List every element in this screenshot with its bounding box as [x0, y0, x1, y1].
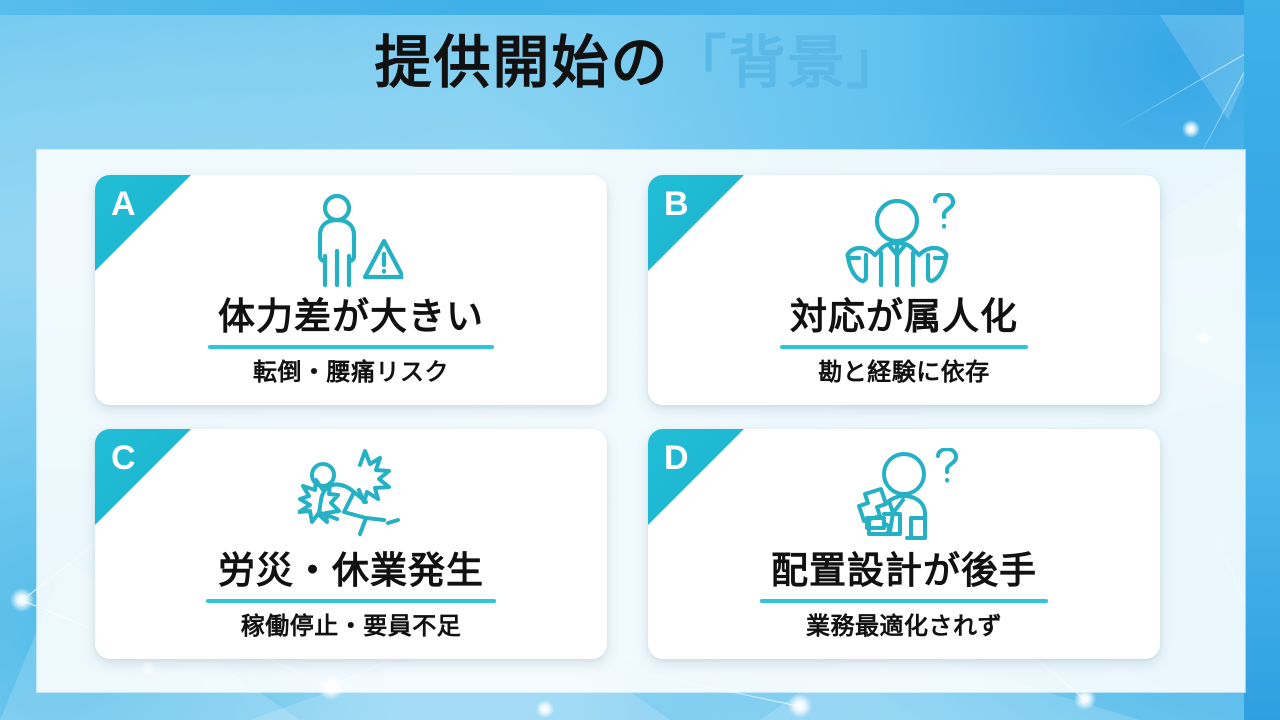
card-b-corner-badge — [648, 175, 744, 271]
card-d-badge-letter: D — [664, 441, 689, 475]
card-b-heading: 対応が属人化 — [790, 297, 1018, 338]
card-d-corner-badge — [648, 429, 744, 525]
background-top-band — [0, 0, 1280, 15]
card-b-heading-rule — [780, 345, 1028, 349]
page-title: 提供開始の「背景」 — [0, 31, 1280, 97]
card-b[interactable]: B 対応が属人化 勘と経験に依存 — [648, 175, 1160, 405]
background-right-band — [1244, 0, 1280, 720]
card-a-corner-badge — [95, 175, 191, 271]
card-d-heading: 配置設計が後手 — [771, 551, 1037, 592]
card-c-corner-badge — [95, 429, 191, 525]
card-b-badge-letter: B — [664, 187, 689, 221]
page-title-highlight: 「背景」 — [670, 31, 906, 95]
card-a-heading-rule — [208, 345, 494, 349]
card-grid: A 体力差が大きい 転倒・腰痛リスク B — [95, 175, 1160, 659]
card-a[interactable]: A 体力差が大きい 転倒・腰痛リスク — [95, 175, 607, 405]
card-a-subtitle: 転倒・腰痛リスク — [253, 360, 449, 386]
person-shrug-question-icon — [845, 191, 963, 295]
card-c-badge-letter: C — [111, 441, 136, 475]
card-d-subtitle: 業務最適化されず — [806, 614, 1002, 640]
card-c-heading-rule — [206, 599, 496, 603]
card-a-badge-letter: A — [111, 187, 136, 221]
card-d[interactable]: D 配置設計が後手 業務最適化され — [648, 429, 1160, 659]
person-warning-icon — [299, 191, 403, 295]
page-title-plain: 提供開始の — [375, 31, 670, 95]
card-a-heading: 体力差が大きい — [218, 297, 484, 338]
person-puzzle-question-icon — [849, 445, 959, 549]
card-d-heading-rule — [760, 599, 1048, 603]
slide-root: 提供開始の「背景」 A 体力差が大きい 転倒・腰痛リスク — [0, 0, 1280, 720]
card-c-heading: 労災・休業発生 — [218, 551, 484, 592]
person-falling-impact-icon — [298, 445, 404, 549]
card-b-subtitle: 勘と経験に依存 — [818, 360, 990, 386]
card-c[interactable]: C 労災・休業発生 稼働停止・要員不足 — [95, 429, 607, 659]
card-c-subtitle: 稼働停止・要員不足 — [241, 614, 462, 640]
